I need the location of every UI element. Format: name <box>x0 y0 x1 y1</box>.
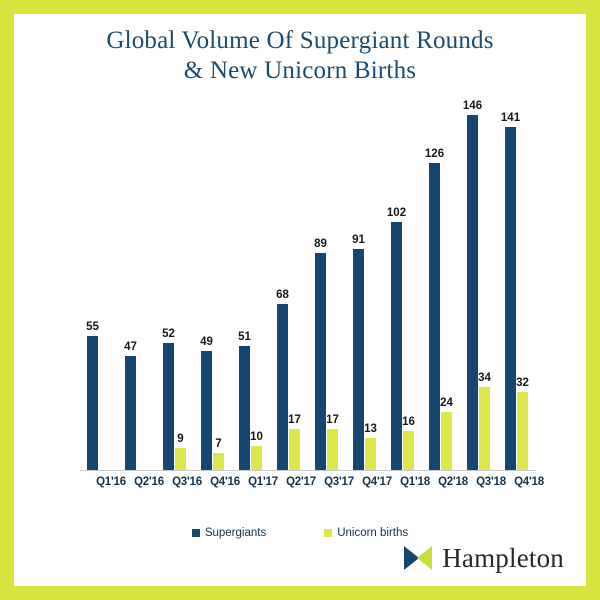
bar-value-label: 9 <box>177 433 183 445</box>
x-axis-line <box>80 470 536 471</box>
bar-value-label: 89 <box>314 238 327 250</box>
bar-value-label: 126 <box>425 148 444 160</box>
legend-swatch-unicorn-births <box>324 529 332 537</box>
bar-value-label: 91 <box>352 234 365 246</box>
bar-value-label: 13 <box>364 423 377 435</box>
bar-group: 14634 <box>467 100 491 470</box>
bar-value-label: 49 <box>200 336 213 348</box>
brand-name: Hampleton <box>442 544 564 572</box>
bar-value-label: 47 <box>124 341 137 353</box>
bar-group: 47 <box>125 100 149 470</box>
bar-unicorn: 32 <box>517 392 528 470</box>
poster-frame: Global Volume Of Supergiant Rounds & New… <box>0 0 600 600</box>
bar-unicorn: 13 <box>365 438 376 470</box>
bar-supergiant: 126 <box>429 163 440 470</box>
bar-unicorn: 17 <box>327 429 338 470</box>
bar-unicorn: 24 <box>441 412 452 470</box>
bar-value-label: 7 <box>215 438 221 450</box>
bar-supergiant: 102 <box>391 222 402 470</box>
x-tick-label: Q4'18 <box>499 476 559 488</box>
bar-group: 9113 <box>353 100 377 470</box>
bar-unicorn: 7 <box>213 453 224 470</box>
bar-supergiant: 68 <box>277 304 288 470</box>
bar-value-label: 24 <box>440 397 453 409</box>
bar-group: 10216 <box>391 100 415 470</box>
bar-supergiant: 141 <box>505 127 516 470</box>
chart-canvas: Global Volume Of Supergiant Rounds & New… <box>14 14 586 586</box>
bar-chart-plot-area: 5547529497511068178917911310216126241463… <box>80 100 536 470</box>
legend-label-unicorn-births: Unicorn births <box>337 527 408 539</box>
bar-group: 6817 <box>277 100 301 470</box>
bar-group: 55 <box>87 100 111 470</box>
page-title-line-2: & New Unicorn Births <box>14 56 586 86</box>
bar-unicorn: 34 <box>479 387 490 470</box>
legend-item-supergiants: Supergiants <box>192 527 266 539</box>
bar-supergiant: 55 <box>87 336 98 470</box>
chart-legend: Supergiants Unicorn births <box>14 527 586 539</box>
bar-value-label: 17 <box>288 414 301 426</box>
bar-value-label: 102 <box>387 207 406 219</box>
page-title: Global Volume Of Supergiant Rounds & New… <box>14 26 586 86</box>
bar-supergiant: 146 <box>467 115 478 470</box>
bar-value-label: 141 <box>501 112 520 124</box>
legend-item-unicorn-births: Unicorn births <box>324 527 408 539</box>
bar-unicorn: 10 <box>251 446 262 470</box>
bar-group: 14132 <box>505 100 529 470</box>
bar-value-label: 32 <box>516 377 529 389</box>
bar-group: 529 <box>163 100 187 470</box>
bar-unicorn: 16 <box>403 431 414 470</box>
bar-group: 12624 <box>429 100 453 470</box>
bar-value-label: 52 <box>162 328 175 340</box>
bar-value-label: 10 <box>250 431 263 443</box>
bar-supergiant: 51 <box>239 346 250 470</box>
bar-supergiant: 47 <box>125 356 136 470</box>
bar-group: 5110 <box>239 100 263 470</box>
bar-supergiant: 89 <box>315 253 326 470</box>
bar-value-label: 55 <box>86 321 99 333</box>
bar-group: 497 <box>201 100 225 470</box>
bar-value-label: 34 <box>478 372 491 384</box>
bar-value-label: 68 <box>276 289 289 301</box>
page-title-line-1: Global Volume Of Supergiant Rounds <box>14 26 586 56</box>
bar-group: 8917 <box>315 100 339 470</box>
bar-unicorn: 9 <box>175 448 186 470</box>
bar-value-label: 16 <box>402 416 415 428</box>
legend-swatch-supergiants <box>192 529 200 537</box>
bar-value-label: 51 <box>238 331 251 343</box>
bar-unicorn: 17 <box>289 429 300 470</box>
bar-value-label: 146 <box>463 100 482 112</box>
bar-supergiant: 91 <box>353 249 364 471</box>
legend-label-supergiants: Supergiants <box>205 527 266 539</box>
hampleton-bowtie-icon <box>403 545 433 571</box>
bar-value-label: 17 <box>326 414 339 426</box>
brand-logo: Hampleton <box>403 544 564 572</box>
bar-supergiant: 49 <box>201 351 212 470</box>
bar-supergiant: 52 <box>163 343 174 470</box>
